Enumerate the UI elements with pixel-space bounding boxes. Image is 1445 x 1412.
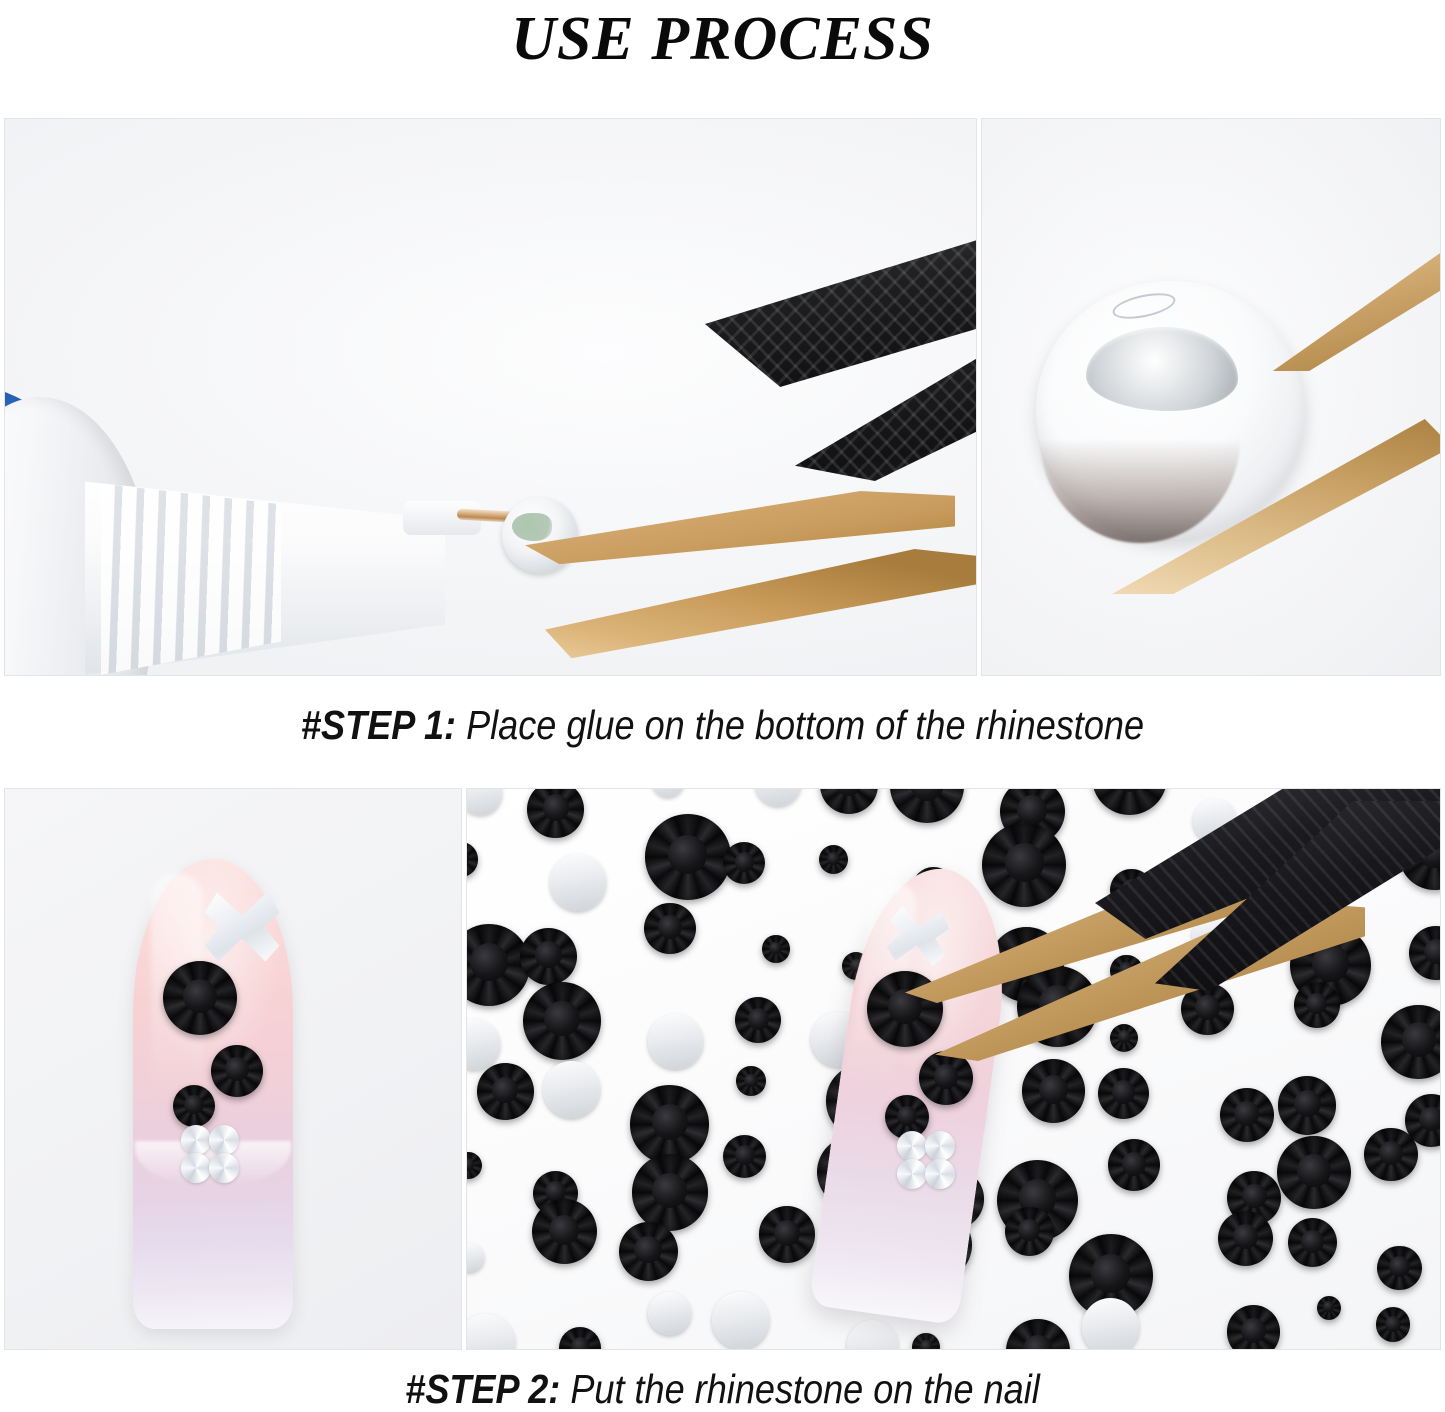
use-process-infographic: USE PROCESS xyxy=(0,0,1445,1412)
black-rhinestone xyxy=(1108,1139,1160,1191)
step-1-image-row xyxy=(4,118,1441,676)
black-rhinestone xyxy=(736,1066,766,1096)
black-rhinestone xyxy=(1006,1319,1070,1350)
rhinestone-flat-back xyxy=(550,854,607,911)
step-1-photo-rhinestone-closeup xyxy=(981,118,1441,676)
black-rhinestone-medium xyxy=(919,1051,973,1105)
black-rhinestone xyxy=(1092,788,1167,815)
step-2-label: #STEP 2: xyxy=(405,1366,560,1412)
rhinestone-flat-back xyxy=(652,788,684,797)
black-rhinestone xyxy=(912,1333,940,1350)
black-rhinestone xyxy=(1294,982,1340,1028)
black-rhinestone-small xyxy=(173,1085,215,1127)
black-rhinestone xyxy=(890,788,964,823)
black-rhinestone xyxy=(630,1085,709,1164)
step-2-caption: #STEP 2: Put the rhinestone on the nail xyxy=(87,1364,1359,1412)
step-2-photo-rhinestone-placement xyxy=(466,788,1441,1350)
black-rhinestone xyxy=(559,1327,601,1351)
step-2-text: Put the rhinestone on the nail xyxy=(560,1366,1039,1412)
black-rhinestone xyxy=(1409,926,1441,980)
rhinestone-flat-back xyxy=(543,1061,601,1119)
black-rhinestone xyxy=(735,997,781,1043)
black-rhinestone xyxy=(1278,1076,1337,1135)
rhinestone-flat-back xyxy=(648,1292,692,1336)
black-rhinestone xyxy=(527,788,584,838)
step-1-label: #STEP 1: xyxy=(301,702,456,748)
black-rhinestone xyxy=(1288,1218,1337,1267)
rhinestone-flat-back xyxy=(466,1019,500,1071)
black-rhinestone xyxy=(1220,1088,1275,1143)
black-rhinestone xyxy=(520,928,578,986)
decorated-nail-scene xyxy=(5,789,461,1349)
black-rhinestone xyxy=(532,1199,597,1264)
black-rhinestone xyxy=(819,845,848,874)
black-rhinestone xyxy=(1381,1005,1441,1080)
rhinestone-flat-back xyxy=(466,1243,484,1273)
black-rhinestone xyxy=(762,935,790,963)
black-rhinestone xyxy=(1218,1211,1273,1266)
step-1-text: Place glue on the bottom of the rhinesto… xyxy=(456,702,1144,748)
black-rhinestone xyxy=(982,823,1066,907)
flower-gem xyxy=(897,1131,955,1189)
glue-bottle-nozzle-ribs xyxy=(101,471,281,676)
black-rhinestone xyxy=(1377,1246,1422,1291)
rhinestone-flat-back xyxy=(1082,1298,1139,1350)
step-1-caption: #STEP 1: Place glue on the bottom of the… xyxy=(87,700,1359,750)
rhinestone-flat-back xyxy=(466,1314,515,1350)
step-2-image-row xyxy=(4,788,1441,1350)
rhinestone-flat-back xyxy=(648,1014,703,1069)
black-rhinestone xyxy=(632,1154,709,1231)
black-rhinestone xyxy=(1005,1207,1054,1256)
step-1-photo-glue-application xyxy=(4,118,977,676)
rhinestone-placement-scene xyxy=(467,789,1440,1349)
page-title: USE PROCESS xyxy=(0,2,1445,76)
rhinestone-flat-back xyxy=(466,788,502,815)
black-rhinestone xyxy=(477,1063,534,1120)
flower-gem xyxy=(181,1125,239,1183)
black-rhinestone xyxy=(523,982,601,1060)
black-rhinestone xyxy=(1277,1136,1351,1210)
black-rhinestone-medium xyxy=(211,1045,263,1097)
black-rhinestone xyxy=(1110,1024,1138,1052)
black-rhinestone xyxy=(619,1222,678,1281)
glue-application-scene xyxy=(5,119,976,675)
black-rhinestone xyxy=(723,842,765,884)
black-rhinestone xyxy=(1022,1059,1085,1122)
black-rhinestone-large xyxy=(163,961,237,1035)
black-rhinestone xyxy=(723,1135,766,1178)
black-rhinestone xyxy=(820,788,879,814)
black-rhinestone xyxy=(1317,1296,1341,1320)
black-rhinestone xyxy=(759,1206,816,1263)
rhinestone-flat-back xyxy=(712,1292,769,1349)
rhinestone-flat-back xyxy=(755,788,801,806)
step-2-photo-decorated-nail xyxy=(4,788,462,1350)
black-rhinestone xyxy=(1364,1128,1417,1181)
black-rhinestone xyxy=(466,842,478,877)
black-rhinestone xyxy=(1098,1068,1149,1119)
black-rhinestone xyxy=(644,903,696,955)
rhinestone-closeup-scene xyxy=(982,119,1440,675)
black-rhinestone xyxy=(1376,1307,1411,1342)
black-rhinestone xyxy=(645,814,731,900)
black-rhinestone xyxy=(466,1152,482,1180)
rhinestone-flat-back xyxy=(847,1320,898,1350)
black-rhinestone xyxy=(1227,1305,1280,1350)
